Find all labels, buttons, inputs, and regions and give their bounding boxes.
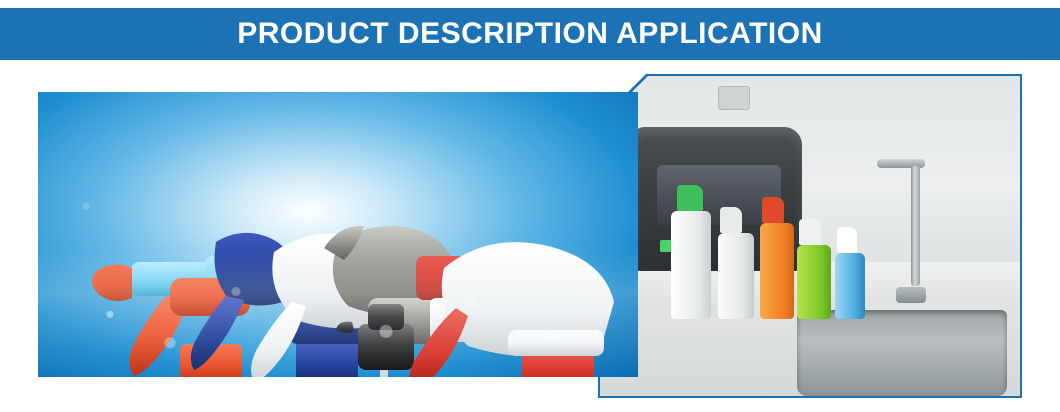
trigger-sprayer-nozzle — [762, 197, 784, 223]
page-header-banner: PRODUCT DESCRIPTION APPLICATION — [0, 8, 1060, 60]
sprayer-illustration — [38, 92, 638, 377]
page-title: PRODUCT DESCRIPTION APPLICATION — [237, 19, 823, 49]
trigger-sprayer-nozzle — [720, 207, 742, 233]
content-area — [0, 60, 1060, 412]
trigger-sprayer-nozzle — [837, 227, 857, 253]
kitchen-sink-application-photo — [600, 76, 1020, 396]
spray-bottle-orange — [760, 223, 794, 319]
spray-bottle-white-tall — [671, 211, 711, 319]
spray-bottle-green — [797, 245, 831, 319]
trigger-sprayer-nozzle — [799, 219, 821, 245]
spray-bottle-white-short — [718, 233, 754, 319]
wall-outlet-icon — [718, 86, 750, 110]
trigger-sprayer-nozzle — [677, 185, 703, 211]
spray-bottle-blue — [835, 253, 865, 319]
stainless-steel-sink — [797, 310, 1007, 396]
trigger-sprayer-product-photo — [38, 92, 638, 377]
faucet-base — [896, 287, 926, 303]
faucet-body — [911, 166, 920, 286]
